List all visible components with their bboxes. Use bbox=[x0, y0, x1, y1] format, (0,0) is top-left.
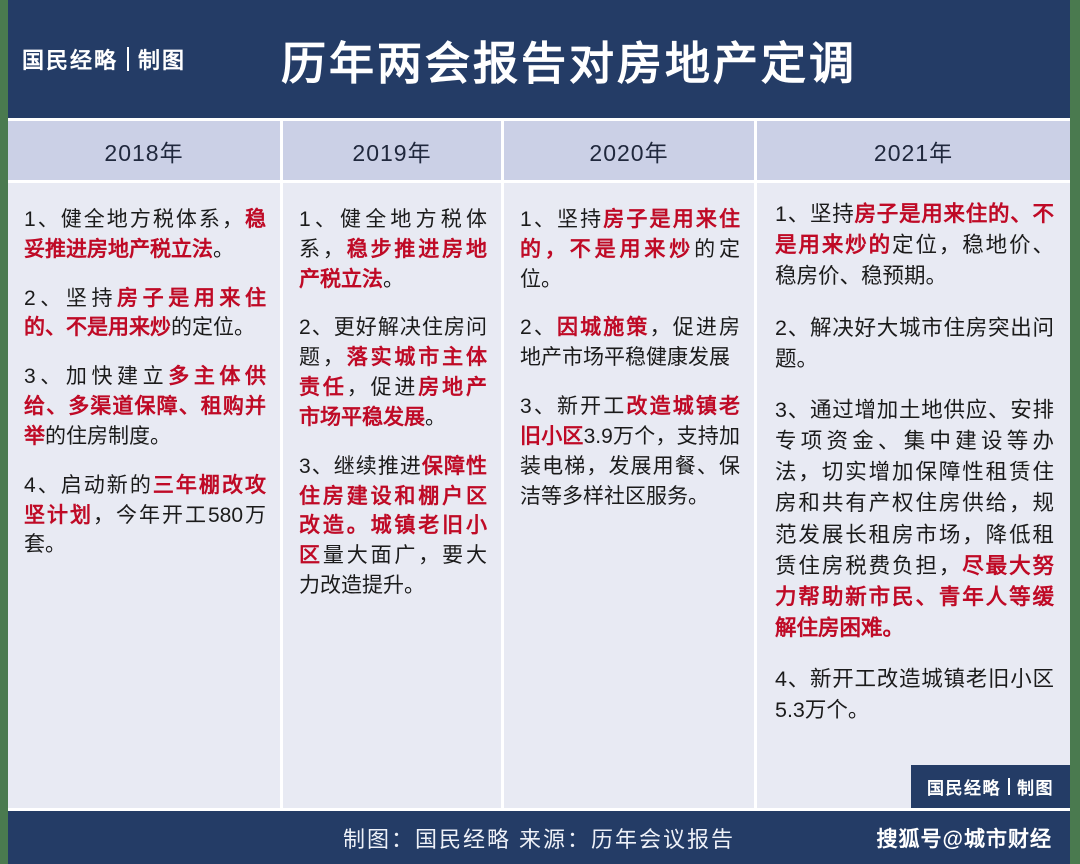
comparison-table: 2018年 2019年 2020年 2021年 1、健全地方税体系，稳妥推进房地… bbox=[8, 118, 1070, 808]
list-item: 3、通过增加土地供应、安排专项资金、集中建设等办法，切实增加保障性租赁住房和共有… bbox=[775, 395, 1054, 644]
footer-watermark: 搜狐号@城市财经 bbox=[877, 823, 1052, 853]
table-cell-2021: 1、坚持房子是用来住的、不是用来炒的定位，稳地价、稳房价、稳预期。2、解决好大城… bbox=[757, 180, 1070, 808]
list-item: 3、继续推进保障性住房建设和棚户区改造。城镇老旧小区量大面广，要大力改造提升。 bbox=[299, 452, 487, 601]
brand-logo-right: 制图 bbox=[138, 43, 186, 75]
list-item: 2、更好解决住房问题，落实城市主体责任，促进房地产市场平稳发展。 bbox=[299, 313, 487, 432]
body-text: 1、坚持 bbox=[775, 202, 854, 226]
body-text: 量大面广，要大力改造提升。 bbox=[299, 544, 487, 597]
table-cell-2020: 1、坚持房子是用来住的，不是用来炒的定位。2、因城施策，促进房地产市场平稳健康发… bbox=[504, 180, 754, 808]
list-item: 1、坚持房子是用来住的，不是用来炒的定位。 bbox=[520, 205, 740, 294]
list-item: 2、解决好大城市住房突出问题。 bbox=[775, 313, 1054, 375]
header-banner: 国民经略 制图 历年两会报告对房地产定调 bbox=[8, 0, 1070, 118]
body-text: 3、新开工 bbox=[520, 395, 626, 418]
body-text: ，促进 bbox=[347, 376, 419, 399]
body-text: 1、坚持 bbox=[520, 208, 603, 231]
table-body-row: 1、健全地方税体系，稳妥推进房地产税立法。2、坚持房子是用来住的、不是用来炒的定… bbox=[8, 180, 1070, 808]
body-text: 。 bbox=[425, 406, 446, 429]
column-header-label: 2021年 bbox=[874, 134, 953, 168]
body-text: 2、 bbox=[520, 316, 557, 339]
list-item: 1、健全地方税体系，稳步推进房地产税立法。 bbox=[299, 205, 487, 294]
list-item: 1、坚持房子是用来住的、不是用来炒的定位，稳地价、稳房价、稳预期。 bbox=[775, 199, 1054, 293]
table-cell-2018: 1、健全地方税体系，稳妥推进房地产税立法。2、坚持房子是用来住的、不是用来炒的定… bbox=[8, 180, 280, 808]
brand-logo-left: 国民经略 bbox=[22, 43, 118, 75]
brand-logo: 国民经略 制图 bbox=[22, 43, 186, 75]
body-text: 的住房制度。 bbox=[45, 425, 171, 448]
page-title: 历年两会报告对房地产定调 bbox=[221, 27, 857, 92]
column-header-2021: 2021年 bbox=[757, 118, 1070, 180]
infographic-sheet: 国民经略 制图 历年两会报告对房地产定调 2018年 2019年 2020年 2… bbox=[8, 0, 1070, 864]
highlighted-text: 因城施策 bbox=[557, 316, 650, 339]
list-item: 1、健全地方税体系，稳妥推进房地产税立法。 bbox=[24, 205, 266, 265]
column-header-2020: 2020年 bbox=[504, 118, 754, 180]
body-text: 1、健全地方税体系， bbox=[24, 208, 245, 231]
body-text: 的定位。 bbox=[171, 316, 255, 339]
table-header-row: 2018年 2019年 2020年 2021年 bbox=[8, 118, 1070, 180]
cell-content: 1、健全地方税体系，稳步推进房地产税立法。2、更好解决住房问题，落实城市主体责任… bbox=[283, 183, 501, 808]
column-header-2018: 2018年 bbox=[8, 118, 280, 180]
body-text: 4、新开工改造城镇老旧小区5.3万个。 bbox=[775, 667, 1054, 722]
column-header-label: 2018年 bbox=[104, 134, 183, 168]
footer-bar: 制图：国民经略 来源：历年会议报告 搜狐号@城市财经 bbox=[8, 811, 1070, 864]
cell-content: 1、坚持房子是用来住的、不是用来炒的定位，稳地价、稳房价、稳预期。2、解决好大城… bbox=[757, 183, 1070, 808]
list-item: 2、因城施策，促进房地产市场平稳健康发展 bbox=[520, 313, 740, 373]
body-text: 3、继续推进 bbox=[299, 455, 422, 478]
list-item: 4、启动新的三年棚改攻坚计划，今年开工580万套。 bbox=[24, 471, 266, 560]
list-item: 3、加快建立多主体供给、多渠道保障、租购并举的住房制度。 bbox=[24, 362, 266, 451]
table-cell-2019: 1、健全地方税体系，稳步推进房地产税立法。2、更好解决住房问题，落实城市主体责任… bbox=[283, 180, 501, 808]
column-header-label: 2019年 bbox=[352, 134, 431, 168]
list-item: 2、坚持房子是用来住的、不是用来炒的定位。 bbox=[24, 284, 266, 344]
divider-bar-icon bbox=[1008, 778, 1010, 795]
body-text: 3、加快建立 bbox=[24, 365, 168, 388]
column-header-2019: 2019年 bbox=[283, 118, 501, 180]
body-text: 。 bbox=[213, 238, 234, 261]
list-item: 4、新开工改造城镇老旧小区5.3万个。 bbox=[775, 664, 1054, 726]
footer-source-text: 制图：国民经略 来源：历年会议报告 bbox=[343, 822, 735, 854]
list-item: 3、新开工改造城镇老旧小区3.9万个，支持加装电梯，发展用餐、保洁等多样社区服务… bbox=[520, 392, 740, 511]
cell-content: 1、坚持房子是用来住的，不是用来炒的定位。2、因城施策，促进房地产市场平稳健康发… bbox=[504, 183, 754, 808]
cell-brand-badge-left: 国民经略 bbox=[927, 774, 1001, 799]
cell-brand-badge: 国民经略 制图 bbox=[911, 765, 1070, 808]
cell-content: 1、健全地方税体系，稳妥推进房地产税立法。2、坚持房子是用来住的、不是用来炒的定… bbox=[8, 183, 280, 808]
infographic-root: 国民经略 制图 历年两会报告对房地产定调 2018年 2019年 2020年 2… bbox=[0, 0, 1080, 864]
body-text: 。 bbox=[383, 268, 404, 291]
body-text: 3、通过增加土地供应、安排专项资金、集中建设等办法，切实增加保障性租赁住房和共有… bbox=[775, 398, 1054, 578]
divider-bar-icon bbox=[127, 47, 129, 71]
column-header-label: 2020年 bbox=[589, 134, 668, 168]
cell-brand-badge-right: 制图 bbox=[1017, 774, 1054, 799]
body-text: 4、启动新的 bbox=[24, 474, 153, 497]
body-text: 2、解决好大城市住房突出问题。 bbox=[775, 316, 1054, 371]
body-text: 2、坚持 bbox=[24, 287, 117, 310]
